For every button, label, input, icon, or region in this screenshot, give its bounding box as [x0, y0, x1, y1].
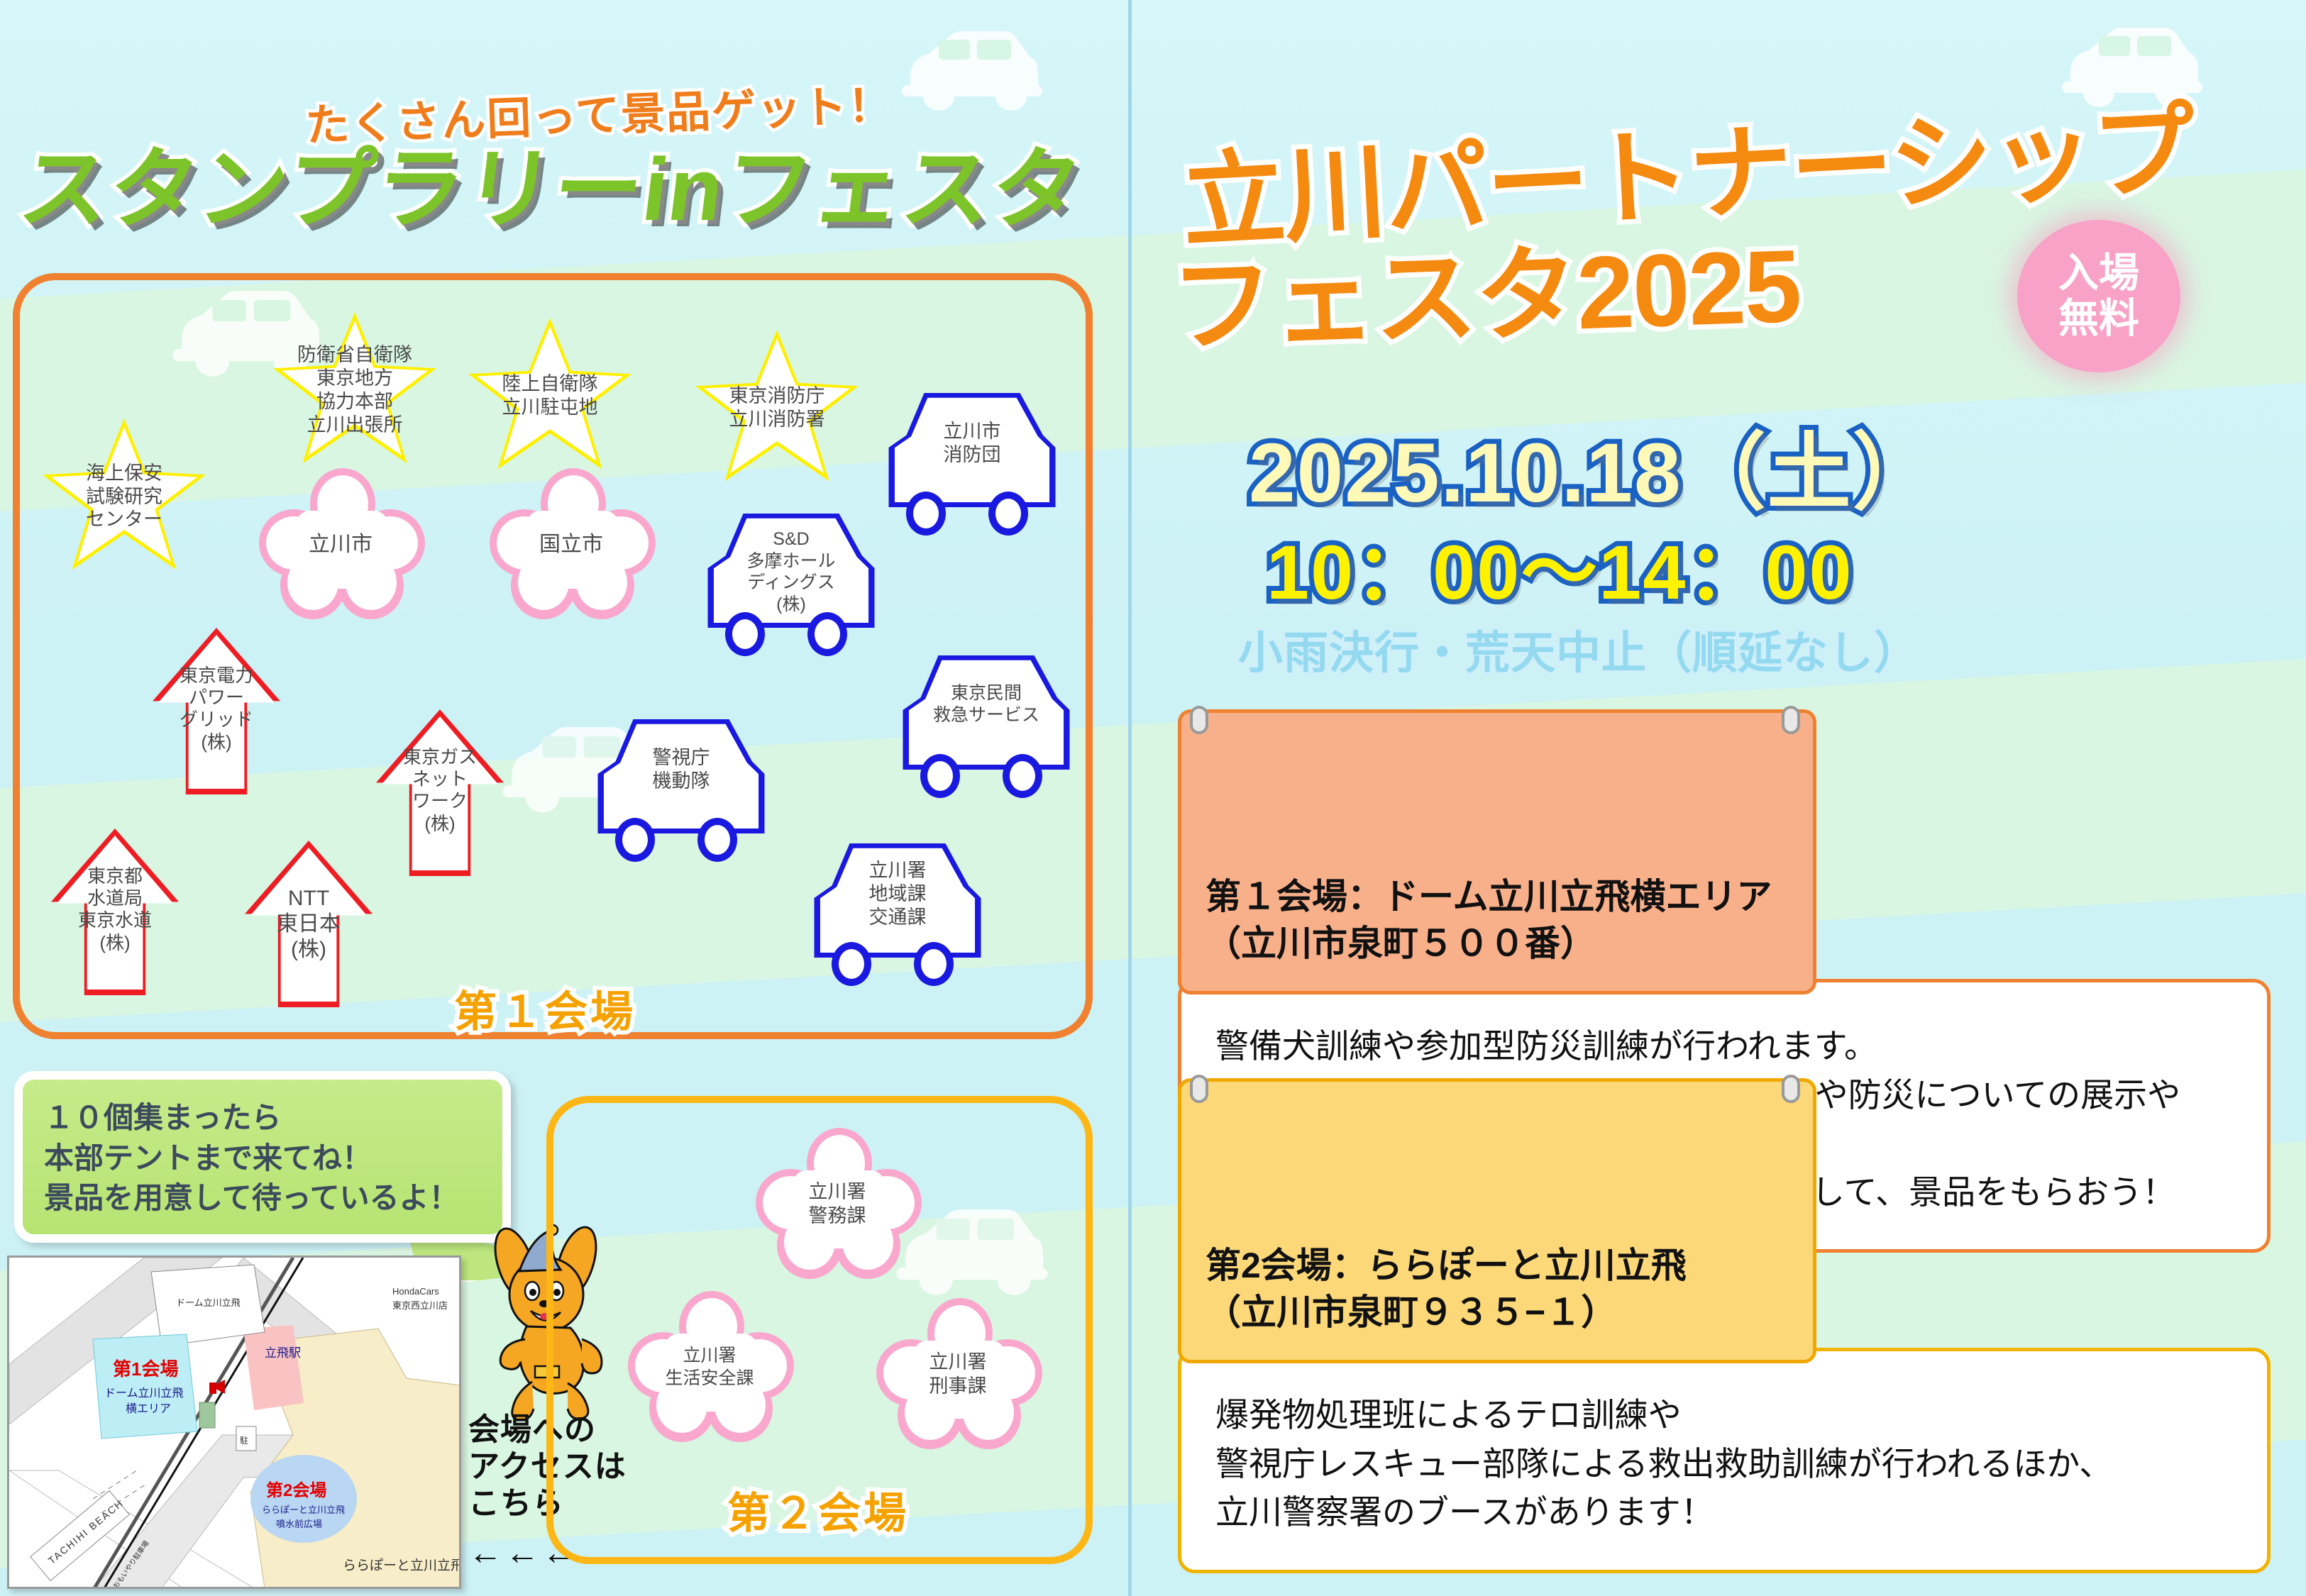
truck-label: 立川署 地域課 交通課	[809, 859, 986, 929]
pin-icon	[1190, 706, 1208, 734]
arrow-label: NTT 東日本 (株)	[245, 886, 373, 963]
venue2-description: 爆発物処理班によるテロ訓練や 警視庁レスキュー部隊による救出救助訓練が行われるほ…	[1178, 1348, 2271, 1573]
event-title-line2: フェスタ2025	[1169, 202, 1802, 373]
sakura-kunitachi-shi: 国立市	[490, 468, 653, 621]
truck-tachikawa-shobodan: 立川市 消防団	[883, 383, 1061, 536]
svg-text:ドーム立川立飛: ドーム立川立飛	[104, 1387, 184, 1400]
truck-label: 立川市 消防団	[883, 420, 1061, 467]
arrow-tepco-pg: 東京電力 パワー グリッド (株)	[153, 628, 280, 794]
sakura-keijika: 立川署 刑事課	[876, 1298, 1039, 1451]
weather-note: 小雨決行・荒天中止（順延なし）	[1238, 617, 1919, 682]
venue2-area-label: 第２会場	[727, 1479, 909, 1541]
star-rikujo: 陸上自衛隊 立川駐屯地	[468, 318, 631, 474]
svg-text:噴水前広場: 噴水前広場	[276, 1519, 322, 1529]
star-label: 陸上自衛隊 立川駐屯地	[502, 372, 598, 419]
sakura-keimuka: 立川署 警務課	[756, 1128, 919, 1280]
arrow-label: 東京都 水道局 東京水道 (株)	[51, 865, 179, 954]
truck-sd-tama: S&D 多摩ホール ディングス (株)	[702, 504, 880, 656]
venue2-tab-text: 第2会場：ららぽーと立川立飛 （立川市泉町９３５−１）	[1206, 1246, 1687, 1332]
svg-text:東京西立川店: 東京西立川店	[392, 1300, 448, 1311]
stamp-rally-title: スタンプラリーinフェスタ	[13, 117, 1091, 245]
speech-bubble-text: １０個集まったら 本部テントまで来てね！ 景品を用意して待っているよ！	[44, 1098, 481, 1219]
arrow-label: 東京電力 パワー グリッド (株)	[153, 665, 280, 753]
sakura-label: 立川市	[309, 531, 373, 558]
sakura-label: 国立市	[539, 531, 603, 558]
speech-bubble: １０個集まったら 本部テントまで来てね！ 景品を用意して待っているよ！	[14, 1071, 511, 1243]
free-admission-badge: 入場 無料	[2017, 220, 2180, 372]
sakura-label: 立川署 刑事課	[929, 1351, 987, 1399]
truck-keishicho-kidotai: 警視庁 機動隊	[592, 709, 770, 862]
free-badge-line1: 入場	[2058, 251, 2139, 297]
arrow-label: 東京ガス ネット ワーク (株)	[376, 746, 504, 835]
sakura-tachikawa-shi: 立川市	[259, 468, 422, 621]
truck-tokyo-minkan: 東京民間 救急サービス	[898, 645, 1075, 798]
svg-text:HondaCars: HondaCars	[392, 1286, 439, 1297]
left-panel: たくさん回って景品ゲット！ スタンプラリーinフェスタ 第１会場 海上保安 試験…	[0, 0, 1128, 1596]
event-date: 2025.10.18（土）	[1249, 404, 1938, 526]
star-tokyo-shobo: 東京消防庁 立川消防署	[695, 330, 859, 486]
truck-label: 東京民間 救急サービス	[898, 682, 1075, 726]
venue1-tab-text: 第１会場：ドーム立川立飛横エリア （立川市泉町５００番）	[1206, 877, 1772, 963]
arrow-ntt-east: NTT 東日本 (株)	[245, 841, 373, 1007]
truck-label: 警視庁 機動隊	[592, 746, 770, 793]
pin-icon	[1190, 1075, 1208, 1103]
star-boeisho: 防衛省自衛隊 東京地方 協力本部 立川出張所	[273, 312, 436, 468]
sakura-label: 立川署 警務課	[809, 1180, 866, 1229]
star-kaijo-hoan: 海上保安 試験研究 センター	[43, 419, 206, 575]
svg-text:ららぽーと立川立飛: ららぽーと立川立飛	[262, 1504, 345, 1515]
svg-text:横エリア: 横エリア	[126, 1402, 171, 1415]
pin-icon	[1782, 706, 1800, 734]
svg-text:第1会場: 第1会場	[113, 1358, 178, 1380]
svg-text:ドーム立川立飛: ドーム立川立飛	[176, 1297, 241, 1308]
arrow-tokyo-suido: 東京都 水道局 東京水道 (株)	[51, 829, 179, 995]
flyer-page: たくさん回って景品ゲット！ スタンプラリーinフェスタ 第１会場 海上保安 試験…	[0, 0, 2306, 1596]
star-label: 海上保安 試験研究 センター	[86, 462, 162, 532]
truck-tachikawa-chiiki: 立川署 地域課 交通課	[809, 833, 986, 986]
svg-text:第2会場: 第2会場	[266, 1480, 326, 1500]
svg-text:立飛駅: 立飛駅	[265, 1346, 301, 1360]
venue1-tab: 第１会場：ドーム立川立飛横エリア （立川市泉町５００番）	[1178, 709, 1816, 994]
svg-text:駐: 駐	[240, 1435, 248, 1446]
arrow-tokyo-gas: 東京ガス ネット ワーク (株)	[376, 709, 504, 876]
star-label: 防衛省自衛隊 東京地方 協力本部 立川出張所	[297, 343, 412, 437]
sakura-label: 立川署 生活安全課	[665, 1345, 754, 1390]
venue2-tab: 第2会場：ららぽーと立川立飛 （立川市泉町９３５−１）	[1178, 1078, 1816, 1363]
truck-label: S&D 多摩ホール ディングス (株)	[702, 528, 880, 615]
sakura-seikatsu-anzen: 立川署 生活安全課	[628, 1291, 791, 1443]
venue1-area-label: 第１会場	[454, 977, 636, 1039]
svg-text:ららぽーと立川立飛: ららぽーと立川立飛	[343, 1558, 460, 1573]
pin-icon	[1782, 1075, 1800, 1103]
right-panel: 立川パートナーシップ フェスタ2025 入場 無料 2025.10.18（土） …	[1132, 0, 2306, 1596]
star-label: 東京消防庁 立川消防署	[729, 384, 825, 431]
event-time: 10：00〜14：00	[1267, 511, 1853, 621]
access-map[interactable]: 立飛駅 ドーム立川立飛 第1会場 ドーム立川立飛 横エリア 第2会場 ららぽーと…	[7, 1256, 461, 1589]
free-badge-line2: 無料	[2058, 297, 2139, 342]
